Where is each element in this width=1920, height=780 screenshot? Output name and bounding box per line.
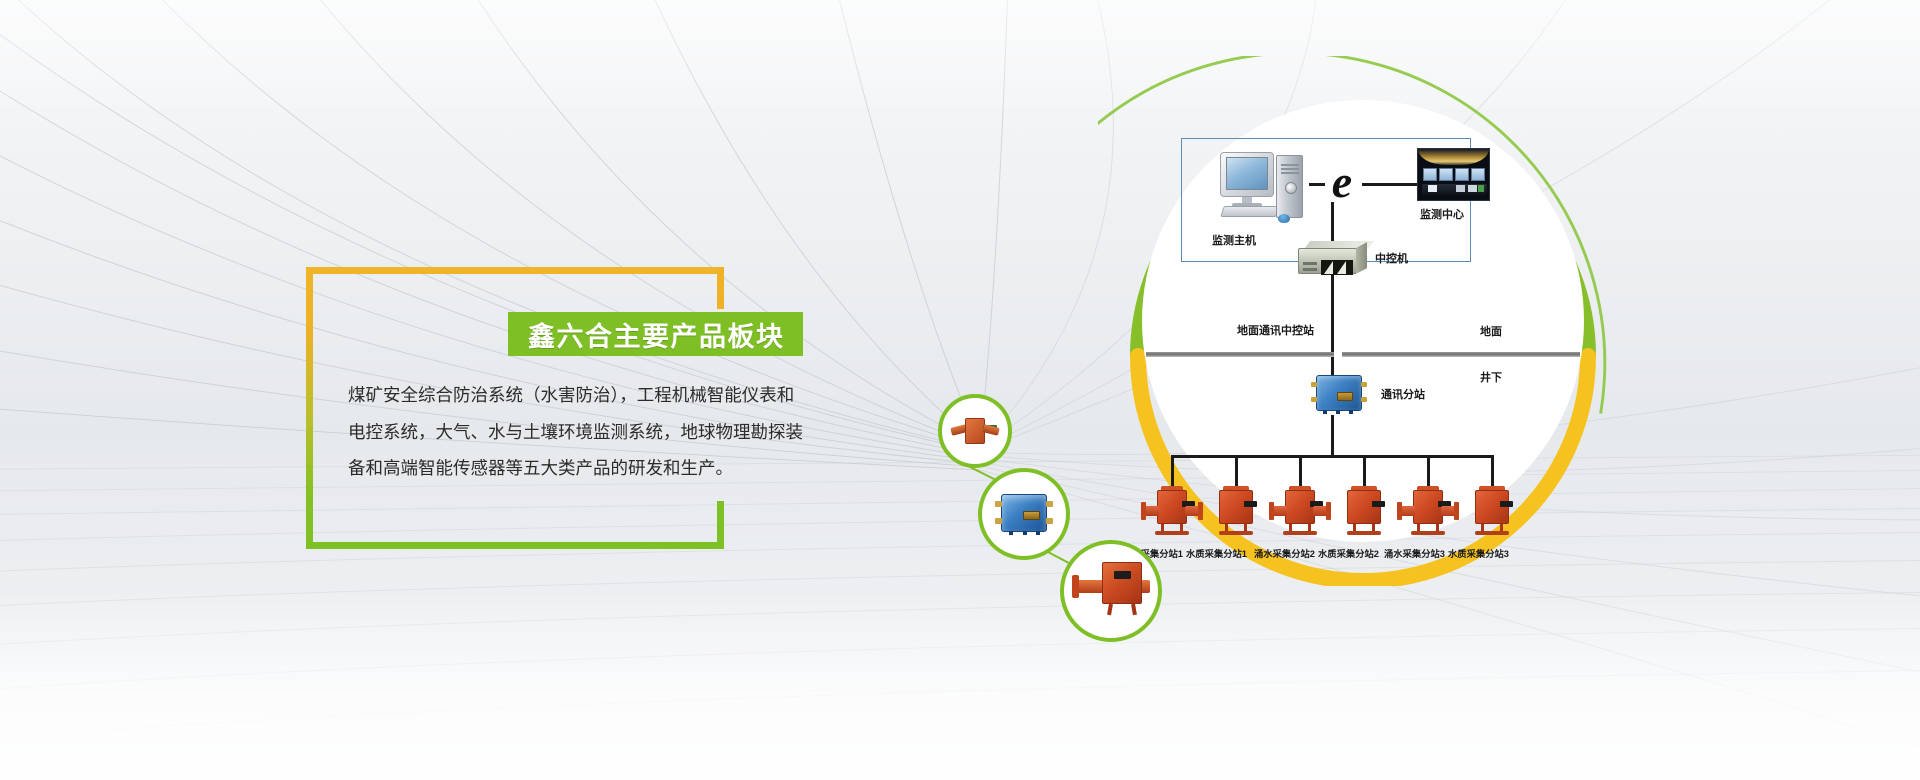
wire-cloud-to-center bbox=[1362, 183, 1419, 186]
frame-right-top-stub bbox=[717, 267, 724, 309]
collection-stations-row bbox=[1138, 486, 1588, 548]
mc-detail bbox=[1478, 185, 1484, 192]
mc-detail bbox=[1456, 185, 1465, 192]
product-bubble-orange-sensor[interactable] bbox=[938, 394, 1012, 468]
ground-surface-line bbox=[1146, 352, 1580, 357]
pc-tower-icon bbox=[1276, 155, 1303, 218]
substation-port bbox=[1311, 397, 1317, 402]
monitor-screen bbox=[1226, 157, 1268, 190]
collection-station bbox=[1269, 486, 1331, 540]
label-station-2: 水质采集分站1 bbox=[1186, 546, 1247, 560]
body-line-3: 备和高端智能传感器等五大类产品的研发和生产。 bbox=[348, 460, 868, 478]
panel-title-badge: 鑫六合主要产品板块 bbox=[508, 312, 803, 356]
monitor-icon bbox=[1220, 152, 1274, 197]
mc-detail bbox=[1428, 185, 1437, 192]
mc-screen bbox=[1439, 168, 1453, 181]
mouse-icon bbox=[1278, 214, 1290, 223]
label-underground: 井下 bbox=[1480, 369, 1502, 385]
frame-right-bottom-stub bbox=[717, 501, 724, 549]
mc-screen bbox=[1471, 168, 1485, 181]
substation-foot bbox=[1349, 410, 1353, 414]
monitoring-host-computer bbox=[1220, 152, 1306, 226]
monitoring-center-photo bbox=[1417, 148, 1490, 201]
wire-cloud-to-server bbox=[1331, 202, 1334, 244]
substation-port bbox=[1311, 382, 1317, 387]
server-front-panel bbox=[1298, 248, 1357, 274]
label-station-5: 涌水采集分站3 bbox=[1384, 546, 1445, 560]
banner-stage: 鑫六合主要产品板块 煤矿安全综合防治系统（水害防治），工程机械智能仪表和 电控系… bbox=[0, 0, 1920, 780]
product-bubble-blue-junction-box[interactable] bbox=[978, 468, 1070, 560]
blue-junction-box-icon bbox=[995, 494, 1053, 536]
wire-horizontal-bus bbox=[1171, 455, 1493, 458]
central-control-server bbox=[1298, 241, 1368, 275]
collection-station bbox=[1397, 486, 1459, 540]
label-monitoring-center: 监测中心 bbox=[1420, 206, 1464, 222]
orange-sensor-icon bbox=[951, 418, 999, 444]
label-station-6: 水质采集分站3 bbox=[1448, 546, 1509, 560]
wire-branch-4 bbox=[1363, 455, 1366, 487]
collection-station bbox=[1333, 486, 1395, 540]
substation-body bbox=[1316, 375, 1362, 411]
substation-foot bbox=[1336, 410, 1340, 414]
label-ground: 地面 bbox=[1480, 323, 1502, 339]
background-top-fade bbox=[0, 0, 1920, 120]
server-vent bbox=[1324, 261, 1333, 274]
wire-branch-3 bbox=[1299, 455, 1302, 487]
wire-server-to-ground bbox=[1331, 272, 1334, 354]
label-ground-comm-station: 地面通讯中控站 bbox=[1237, 322, 1314, 338]
server-slot bbox=[1303, 262, 1317, 265]
network-e-icon: e bbox=[1320, 162, 1364, 206]
label-monitoring-host: 监测主机 bbox=[1212, 232, 1256, 248]
frame-top-edge bbox=[306, 267, 724, 274]
comm-substation-device bbox=[1310, 373, 1368, 415]
keyboard-icon bbox=[1220, 206, 1280, 217]
mc-ceiling bbox=[1418, 149, 1489, 165]
mc-screen bbox=[1423, 168, 1437, 181]
label-station-4: 水质采集分站2 bbox=[1318, 546, 1379, 560]
product-bubble-red-collector[interactable] bbox=[1060, 540, 1162, 642]
substation-display bbox=[1337, 392, 1353, 401]
panel-body-text: 煤矿安全综合防治系统（水害防治），工程机械智能仪表和 电控系统，大气、水与土壤环… bbox=[348, 387, 868, 497]
ground-line-right bbox=[1342, 352, 1580, 357]
wire-branch-2 bbox=[1235, 455, 1238, 487]
system-architecture-diagram: e bbox=[1128, 86, 1598, 556]
server-slot bbox=[1303, 268, 1317, 271]
product-intro-panel: 鑫六合主要产品板块 煤矿安全综合防治系统（水害防治），工程机械智能仪表和 电控系… bbox=[306, 267, 724, 549]
ground-line-left bbox=[1146, 352, 1334, 357]
red-flanged-collector-icon bbox=[1072, 562, 1150, 618]
label-comm-substation: 通讯分站 bbox=[1381, 386, 1425, 402]
mc-screen bbox=[1455, 168, 1469, 181]
collection-station bbox=[1141, 486, 1203, 540]
wire-substation-drop bbox=[1331, 415, 1334, 457]
wire-branch-6 bbox=[1491, 455, 1494, 487]
substation-port bbox=[1361, 397, 1367, 402]
body-line-1: 煤矿安全综合防治系统（水害防治），工程机械智能仪表和 bbox=[348, 387, 868, 405]
label-station-3: 涌水采集分站2 bbox=[1254, 546, 1315, 560]
substation-foot bbox=[1323, 410, 1327, 414]
substation-port bbox=[1361, 382, 1367, 387]
collection-station bbox=[1205, 486, 1267, 540]
wire-branch-1 bbox=[1171, 455, 1174, 487]
label-central-control: 中控机 bbox=[1375, 250, 1408, 266]
tower-power-knob bbox=[1285, 182, 1297, 194]
mc-detail bbox=[1468, 185, 1477, 192]
server-side bbox=[1356, 242, 1367, 274]
body-line-2: 电控系统，大气、水与土壤环境监测系统，地球物理勘探装 bbox=[348, 424, 868, 442]
frame-bottom-edge bbox=[306, 542, 724, 549]
server-vent bbox=[1337, 261, 1346, 274]
wire-branch-5 bbox=[1427, 455, 1430, 487]
frame-left-edge bbox=[306, 267, 313, 549]
diagram-content: e bbox=[1128, 86, 1598, 556]
page-title: 鑫六合主要产品板块 bbox=[528, 315, 785, 354]
collection-station bbox=[1461, 486, 1523, 540]
